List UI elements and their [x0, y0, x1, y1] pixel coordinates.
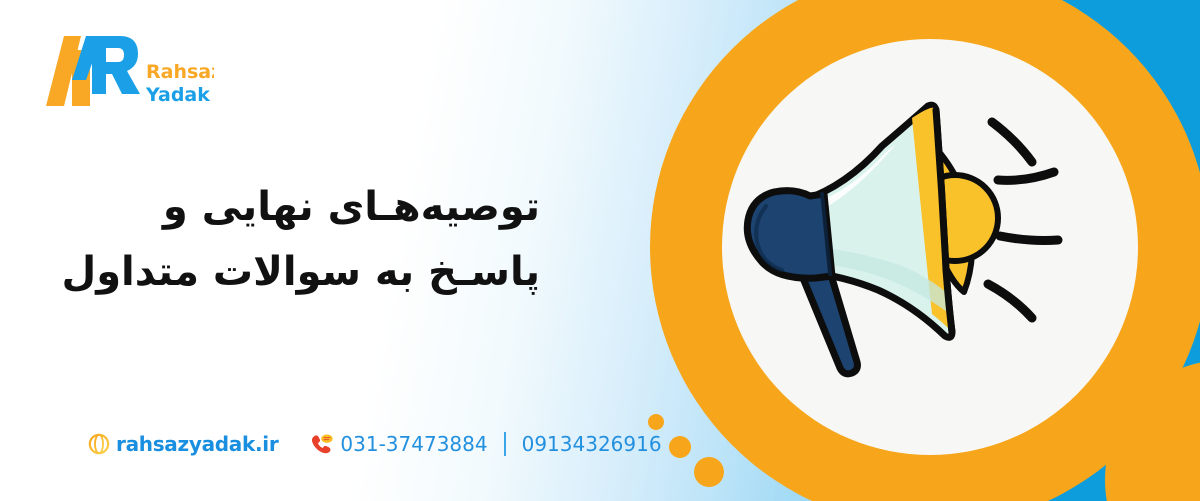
- contact-phone[interactable]: 031-37473884: [310, 432, 487, 456]
- decorative-dot-bottom-left-2: [669, 436, 691, 458]
- globe-icon: [88, 433, 110, 455]
- decorative-dot-top-right-3: [1086, 70, 1101, 85]
- contact-website[interactable]: rahsazyadak.ir: [88, 432, 278, 456]
- page-title: توصیه‌هـای نهایی و پاسـخ به سوالات متداو…: [80, 175, 540, 305]
- headline-line-2: پاسـخ به سوالات متداول: [80, 240, 540, 305]
- sound-line-2: [998, 172, 1054, 180]
- decorative-dot-bottom-left-3: [694, 457, 724, 487]
- logo-blue-r: [92, 36, 140, 94]
- sound-line-3: [1000, 236, 1058, 241]
- logo-text-line1: Rahsazan: [146, 61, 214, 83]
- megaphone-illustration: [706, 70, 1086, 430]
- phone-label: 031-37473884: [340, 432, 487, 456]
- decorative-dot-bottom-left-1: [648, 414, 664, 430]
- rahsazan-yadak-logo[interactable]: Rahsazan Yadak: [34, 28, 214, 110]
- sound-line-1: [992, 122, 1032, 162]
- decorative-dot-top-right-2: [1062, 45, 1083, 66]
- decorative-dot-top-right-1: [1029, 15, 1057, 43]
- website-label: rahsazyadak.ir: [116, 432, 278, 456]
- sound-line-4: [988, 284, 1032, 318]
- logo-text-line2: Yadak: [145, 84, 210, 106]
- phone-bubble-shape: [322, 434, 333, 442]
- contact-bar: rahsazyadak.ir 031-37473884 09134326916: [88, 432, 662, 456]
- megaphone-rear-cap: [747, 191, 832, 279]
- megaphone-group: [747, 105, 1058, 374]
- logo-mark-icon: [46, 36, 140, 106]
- contact-mobile[interactable]: 09134326916: [522, 432, 662, 456]
- mobile-label: 09134326916: [522, 432, 662, 456]
- promo-banner: Rahsazan Yadak توصیه‌هـای نهایی و پاسـخ …: [0, 0, 1200, 501]
- headline-line-1: توصیه‌هـای نهایی و: [80, 175, 540, 240]
- phone-call-icon: [310, 433, 334, 455]
- contact-separator: [504, 432, 506, 456]
